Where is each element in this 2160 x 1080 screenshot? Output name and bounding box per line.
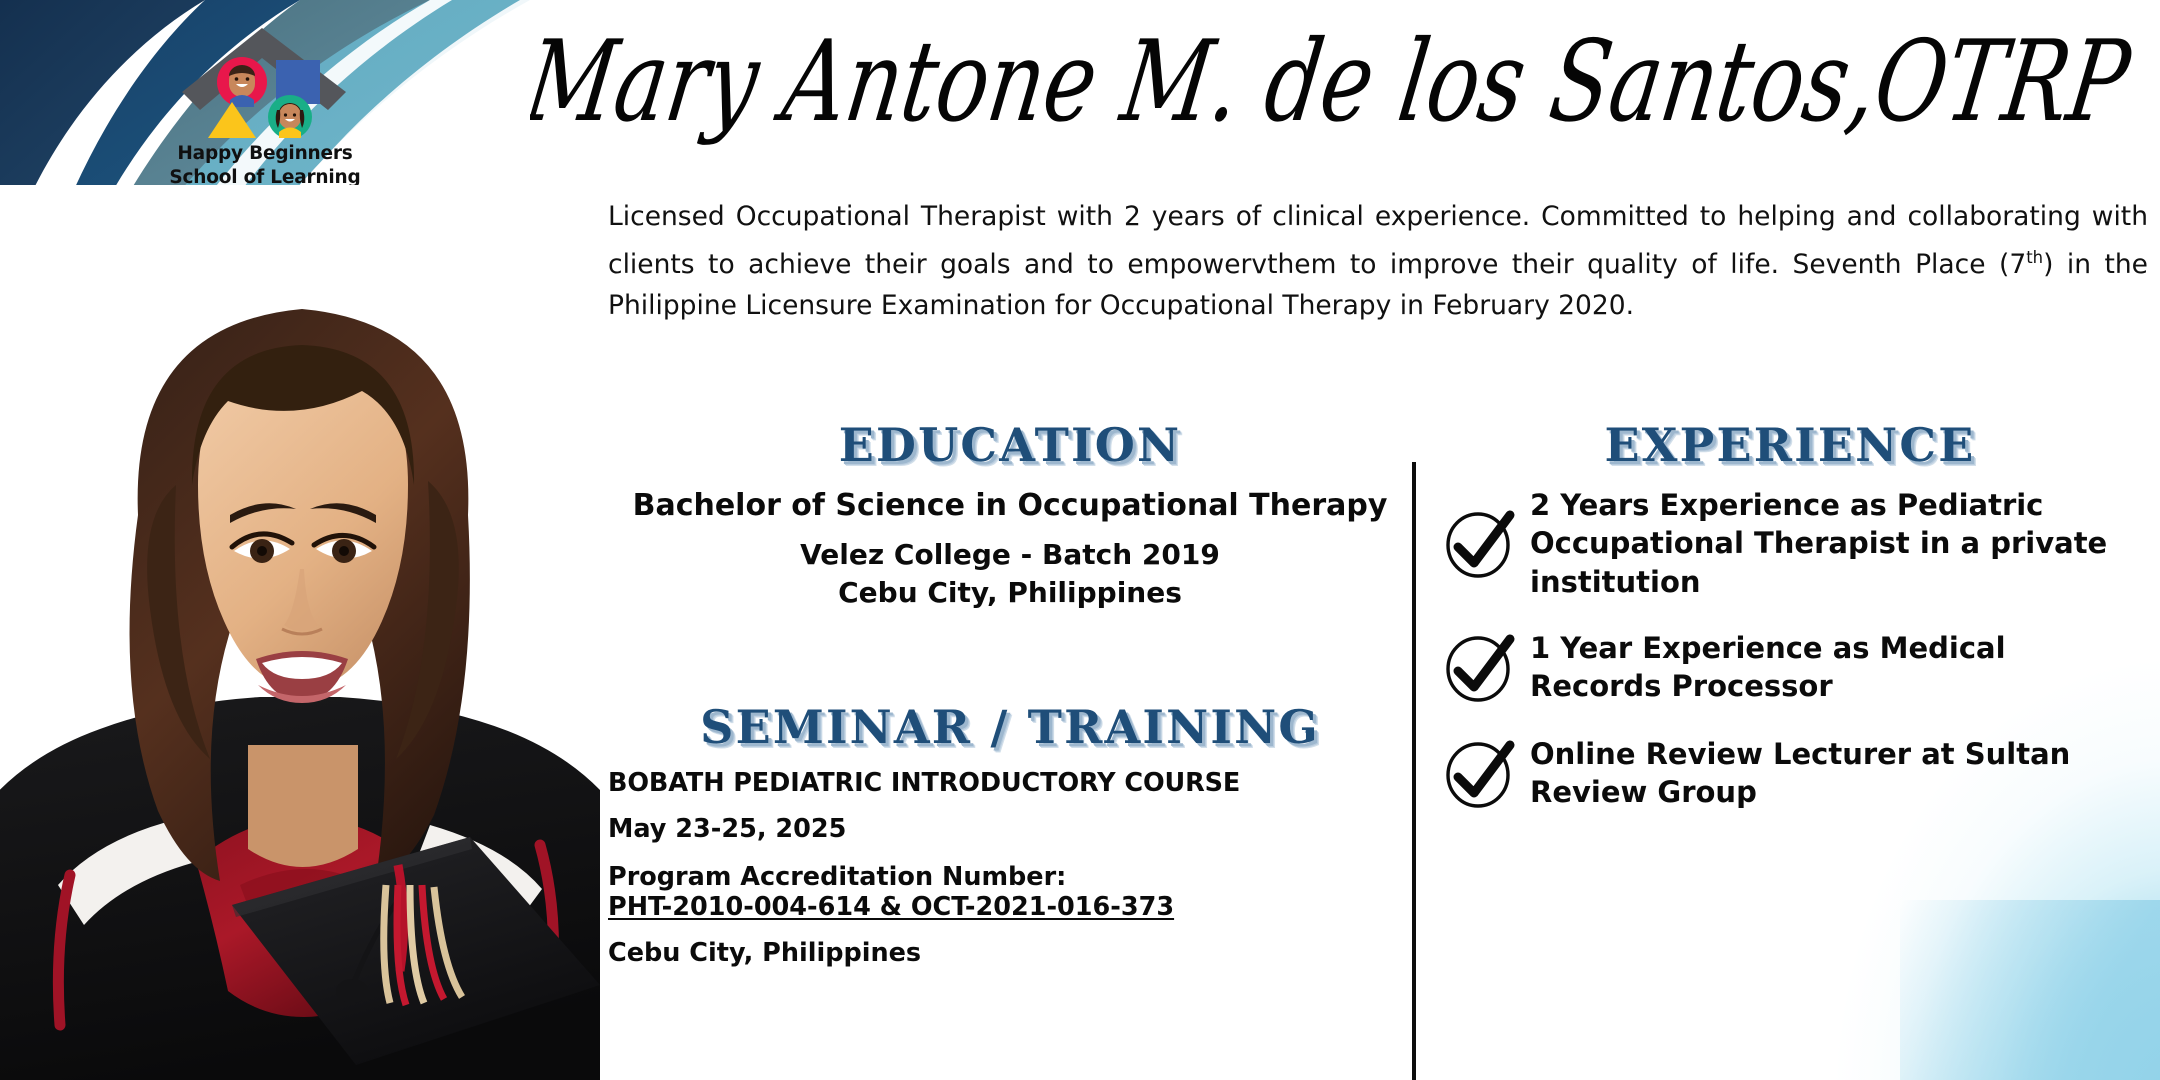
experience-list: 2 Years Experience as Pediatric Occupati… xyxy=(1440,486,2140,839)
seminar-heading: SEMINAR / TRAINING xyxy=(600,700,1420,754)
portrait-photo xyxy=(0,185,600,1080)
experience-item: Online Review Lecturer at Sultan Review … xyxy=(1440,733,2140,813)
seminar-accreditation-number: PHT-2010-004-614 & OCT-2021-016-373 xyxy=(608,892,1438,922)
house-with-children-logo xyxy=(150,18,380,138)
education-school: Velez College - Batch 2019 xyxy=(560,536,1460,574)
seminar-details: BOBATH PEDIATRIC INTRODUCTORY COURSE May… xyxy=(608,768,1438,968)
experience-item: 1 Year Experience as Medical Records Pro… xyxy=(1440,627,2140,707)
person-name-script: Mary Antone M. de los Santos,OTRP xyxy=(530,8,2160,158)
corner-glow-accent xyxy=(1900,900,2160,1080)
experience-item-text: 1 Year Experience as Medical Records Pro… xyxy=(1530,629,2140,706)
experience-item-text: 2 Years Experience as Pediatric Occupati… xyxy=(1530,486,2140,601)
bio-part1: Licensed Occupational Therapist with 2 y… xyxy=(608,201,2148,280)
bio-paragraph: Licensed Occupational Therapist with 2 y… xyxy=(608,196,2148,326)
education-location: Cebu City, Philippines xyxy=(560,574,1460,612)
profile-card: Happy Beginners School of Learning Inc. … xyxy=(0,0,2160,1080)
seminar-course: BOBATH PEDIATRIC INTRODUCTORY COURSE xyxy=(608,768,1438,798)
school-name-line1: Happy Beginners xyxy=(177,143,352,164)
experience-heading: EXPERIENCE xyxy=(1440,418,2140,472)
name-script-text: Mary Antone M. de los Santos,OTRP xyxy=(530,17,2139,147)
education-details: Bachelor of Science in Occupational Ther… xyxy=(560,488,1460,611)
check-circle-icon xyxy=(1440,733,1520,813)
check-circle-icon xyxy=(1440,503,1520,583)
column-divider xyxy=(1412,462,1416,1080)
education-degree: Bachelor of Science in Occupational Ther… xyxy=(560,488,1460,524)
seminar-location: Cebu City, Philippines xyxy=(608,938,1438,968)
seminar-accreditation-label: Program Accreditation Number: xyxy=(608,862,1438,892)
check-circle-icon xyxy=(1440,627,1520,707)
education-heading: EDUCATION xyxy=(600,418,1420,472)
experience-item: 2 Years Experience as Pediatric Occupati… xyxy=(1440,486,2140,601)
bio-ordinal: th xyxy=(2026,248,2043,267)
seminar-date: May 23-25, 2025 xyxy=(608,814,1438,844)
experience-item-text: Online Review Lecturer at Sultan Review … xyxy=(1530,735,2140,812)
